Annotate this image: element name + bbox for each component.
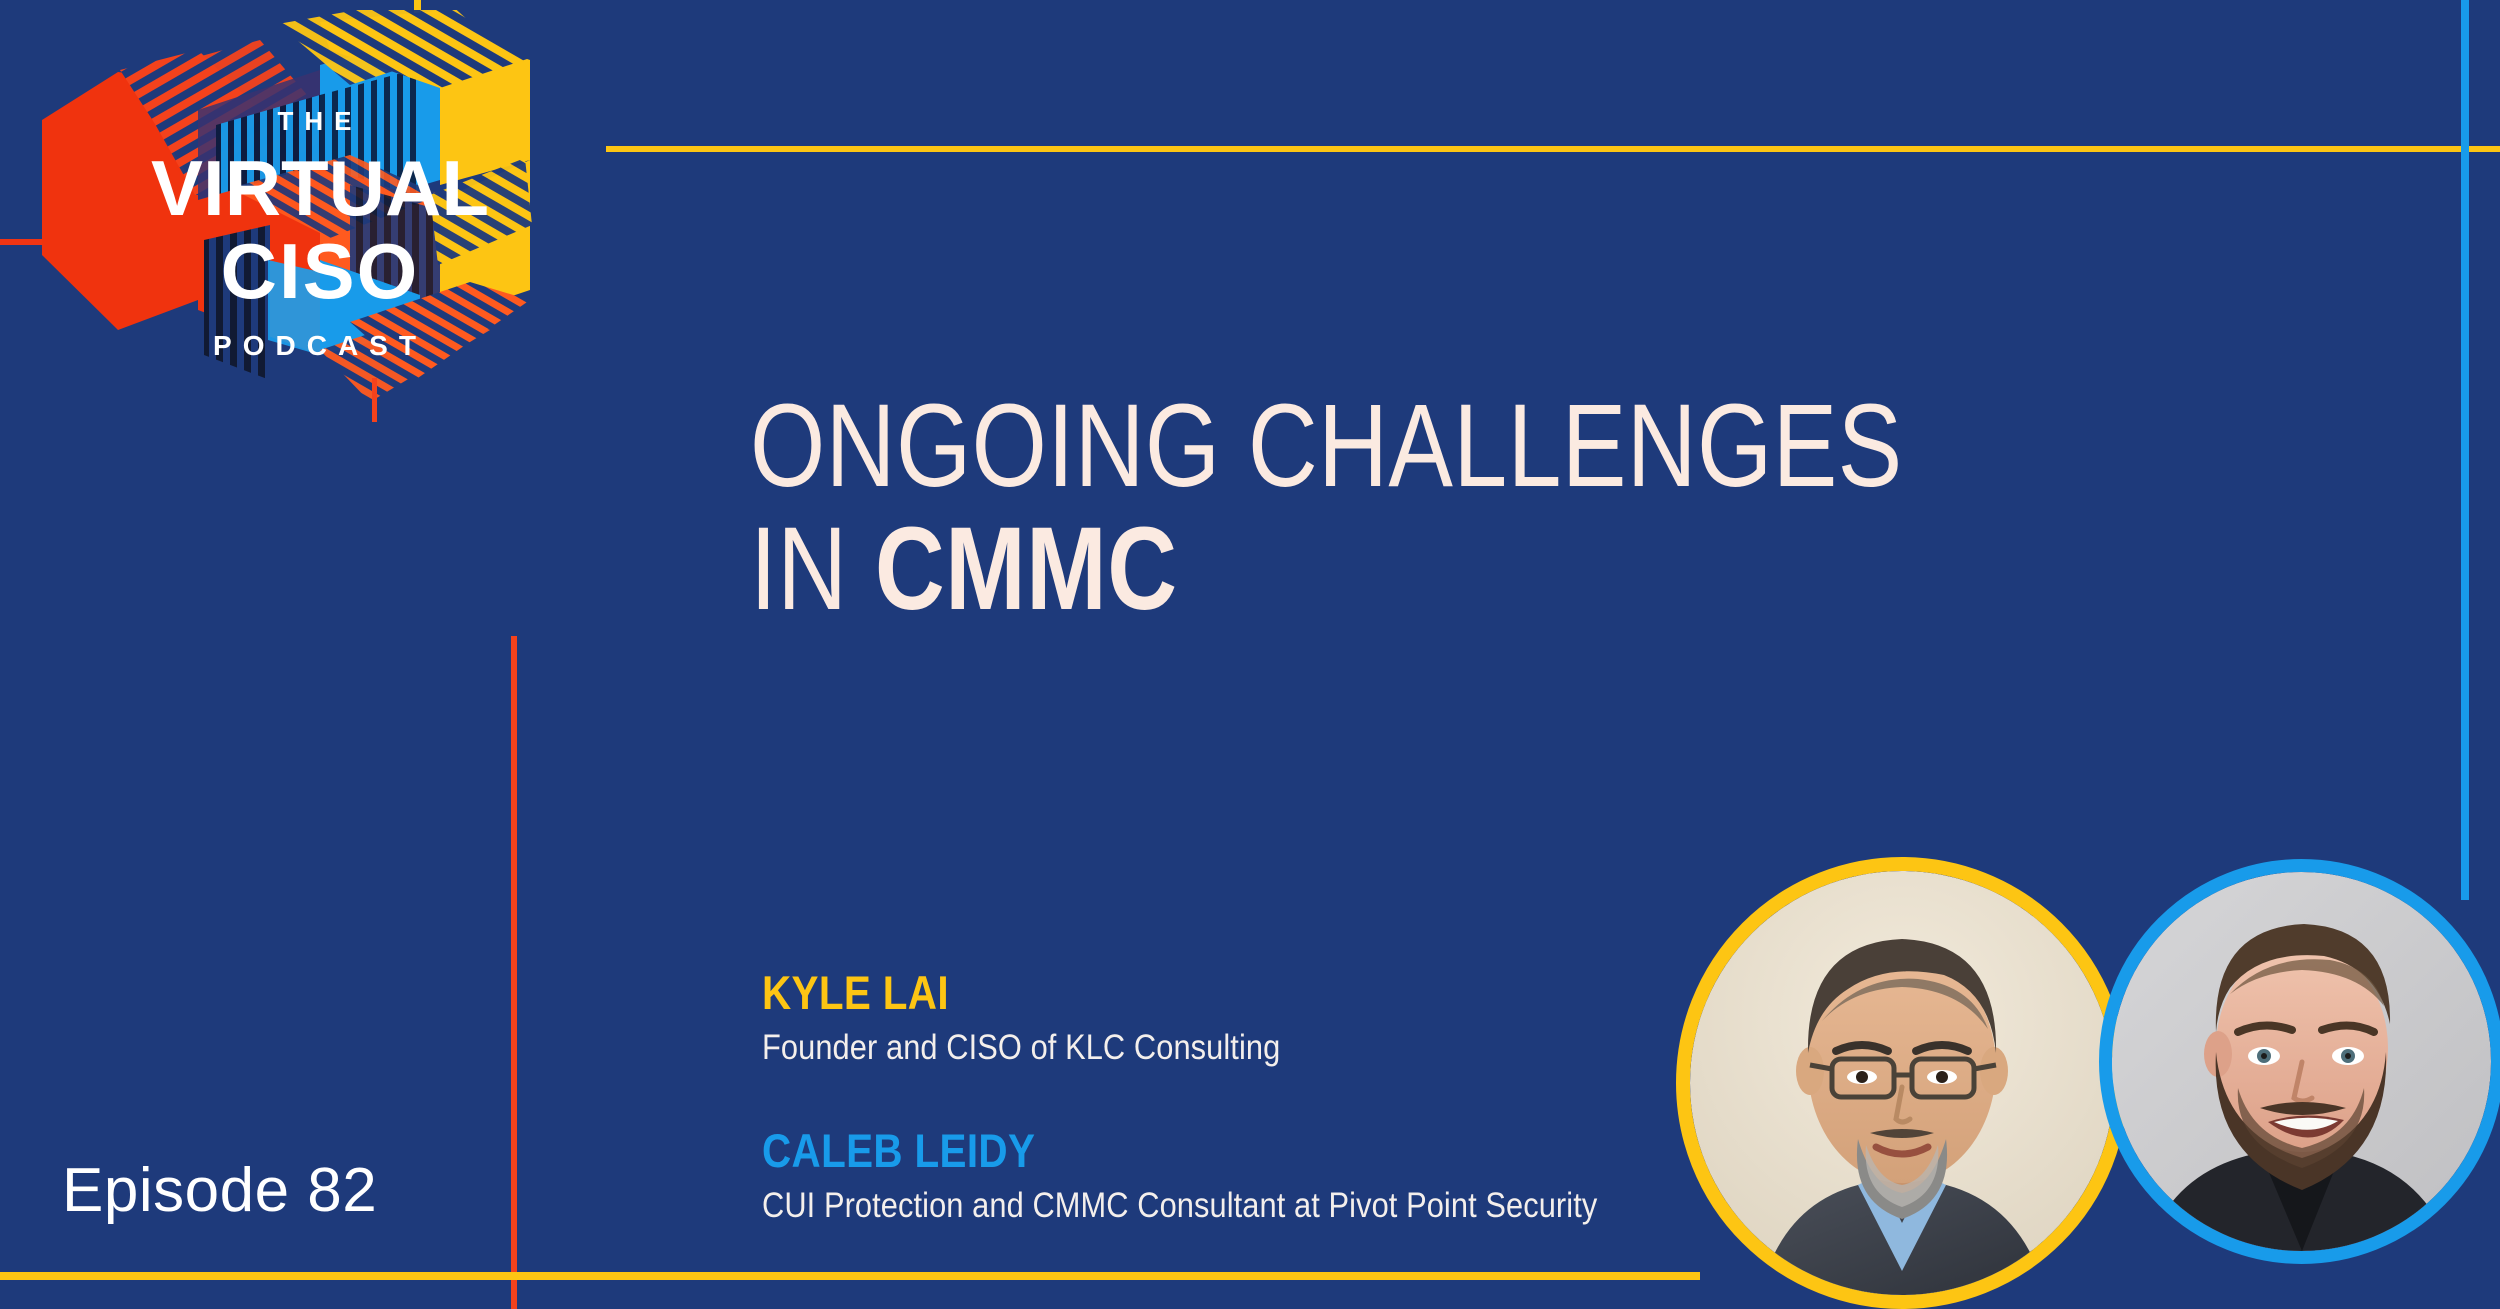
podcast-episode-card: THE VIRTUAL CISO PODCAST ONGOING CHALLEN… <box>0 0 2500 1309</box>
avatar-kyle-lai <box>1676 857 2128 1309</box>
speaker-entry-caleb-leidy: CALEB LEIDY CUI Protection and CMMC Cons… <box>762 1126 1762 1226</box>
bottom-yellow-horizontal-rule <box>0 1272 1700 1280</box>
logo-text-virtual: VIRTUAL <box>151 144 489 232</box>
speaker-name-kyle-lai: KYLE LAI <box>762 968 1622 1018</box>
left-red-vertical-rule <box>511 636 517 1309</box>
speaker-list: KYLE LAI Founder and CISO of KLC Consult… <box>762 968 1762 1266</box>
title-line-2-emphasis: CMMC <box>875 503 1178 635</box>
logo-red-connector <box>372 378 377 422</box>
virtual-ciso-podcast-logo: THE VIRTUAL CISO PODCAST <box>20 10 620 430</box>
episode-number-label: Episode 82 <box>62 1155 377 1226</box>
title-line-2-prefix: IN <box>750 503 875 635</box>
title-line-1: ONGOING CHALLENGES <box>750 385 1914 508</box>
speaker-role-kyle-lai: Founder and CISO of KLC Consulting <box>762 1028 1642 1068</box>
avatar-caleb-leidy <box>2099 859 2500 1264</box>
speaker-entry-kyle-lai: KYLE LAI Founder and CISO of KLC Consult… <box>762 968 1762 1068</box>
episode-title: ONGOING CHALLENGES IN CMMC <box>750 385 2170 630</box>
logo-text-ciso: CISO <box>221 227 420 315</box>
logo-text-the: THE <box>278 106 363 136</box>
avatar-kyle-lai-photo <box>1690 871 2114 1295</box>
speaker-role-caleb-leidy: CUI Protection and CMMC Consultant at Pi… <box>762 1186 1642 1226</box>
right-blue-vertical-rule <box>2461 0 2469 900</box>
logo-text-podcast: PODCAST <box>213 330 427 361</box>
top-yellow-horizontal-rule <box>606 146 2500 152</box>
title-line-2: IN CMMC <box>750 508 1914 631</box>
speaker-name-caleb-leidy: CALEB LEIDY <box>762 1126 1622 1176</box>
avatar-caleb-leidy-photo <box>2112 872 2491 1251</box>
